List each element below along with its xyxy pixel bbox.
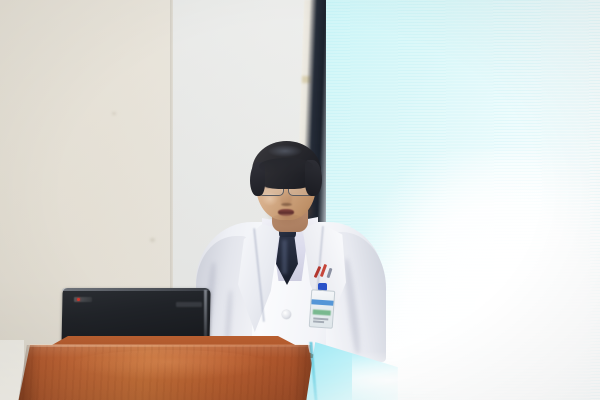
id-badge [309,289,336,329]
hair-highlight [268,145,302,157]
chin-shadow [270,214,304,226]
photo-scene [0,0,600,400]
podium-sheen [70,350,270,380]
laptop-badge-icon [176,302,202,307]
podium-top-highlight [18,344,320,347]
id-badge-text-line [313,320,324,322]
nostril [281,203,292,206]
acrylic-panel-overexposure [352,352,532,400]
necktie-highlight [282,240,287,274]
lab-coat-button [282,310,291,319]
id-badge-stripe [311,299,333,306]
id-badge-accent [313,309,331,315]
laptop-lid-bevel [62,288,210,291]
hair-fringe [259,158,313,174]
